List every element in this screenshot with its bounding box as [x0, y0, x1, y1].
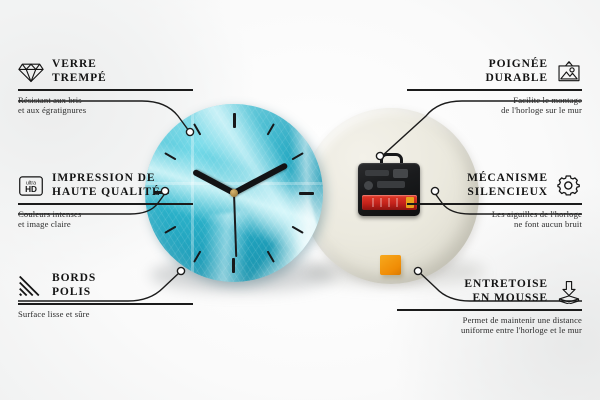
- feature-title: POIGNÉE DURABLE: [485, 58, 548, 85]
- foam-spacer: [380, 255, 401, 275]
- feature-impression-haute-qualite: ultra HD IMPRESSION DE HAUTE QUALITÉ Cou…: [18, 172, 193, 229]
- feature-title: IMPRESSION DE HAUTE QUALITÉ: [52, 172, 161, 199]
- feature-divider: [397, 309, 582, 311]
- feature-desc-line2: ne font aucun bruit: [407, 219, 582, 229]
- clock-tick-12: [233, 113, 235, 193]
- clock-tick-3: [234, 192, 314, 194]
- feature-divider: [18, 89, 193, 91]
- diamond-icon: [18, 60, 44, 84]
- feature-title: MÉCANISME SILENCIEUX: [467, 172, 548, 199]
- feature-header: POIGNÉE DURABLE: [407, 58, 582, 85]
- svg-text:HD: HD: [25, 185, 37, 194]
- feature-desc-line1: Facilite le montage: [407, 95, 582, 105]
- feature-title: BORDS POLIS: [52, 272, 96, 299]
- feature-title: VERRE TREMPÉ: [52, 58, 107, 85]
- feature-desc-line1: Couleurs intenses: [18, 209, 193, 219]
- polished-edge-lines-icon: [18, 274, 44, 298]
- feature-header: ultra HD IMPRESSION DE HAUTE QUALITÉ: [18, 172, 193, 199]
- feature-divider: [18, 303, 193, 305]
- feature-header: ENTRETOISE EN MOUSSE: [397, 278, 582, 305]
- feature-desc-line1: Permet de maintenir une distance: [397, 315, 582, 325]
- feature-divider: [407, 203, 582, 205]
- feature-divider: [407, 89, 582, 91]
- hanging-picture-frame-icon: [556, 60, 582, 84]
- feature-title: ENTRETOISE EN MOUSSE: [464, 278, 548, 305]
- feature-desc-line2: de l'horloge sur le mur: [407, 105, 582, 115]
- feature-divider: [18, 203, 193, 205]
- gear-icon: [556, 174, 582, 198]
- ultra-hd-icon: ultra HD: [18, 174, 44, 198]
- feature-header: VERRE TREMPÉ: [18, 58, 193, 85]
- feature-header: MÉCANISME SILENCIEUX: [407, 172, 582, 199]
- feature-desc-line2: et image claire: [18, 219, 193, 229]
- feature-desc-line2: uniforme entre l'horloge et le mur: [397, 325, 582, 335]
- feature-desc-line1: Résistant aux bris: [18, 95, 193, 105]
- clock-center-cap: [230, 189, 238, 197]
- feature-desc-line2: et aux égratignures: [18, 105, 193, 115]
- feature-desc-line1: Surface lisse et sûre: [18, 309, 193, 319]
- feature-mecanisme-silencieux: MÉCANISME SILENCIEUX Les aiguilles de l'…: [407, 172, 582, 229]
- feature-header: BORDS POLIS: [18, 272, 193, 299]
- feature-entretoise-en-mousse: ENTRETOISE EN MOUSSE Permet de maintenir…: [397, 278, 582, 335]
- feature-poignee-durable: POIGNÉE DURABLE Facilite le montage de l…: [407, 58, 582, 115]
- feature-verre-trempe: VERRE TREMPÉ Résistant aux bris et aux é…: [18, 58, 193, 115]
- foam-spacer-arrow-icon: [556, 280, 582, 304]
- infographic-canvas: VERRE TREMPÉ Résistant aux bris et aux é…: [0, 0, 600, 400]
- feature-desc-line1: Les aiguilles de l'horloge: [407, 209, 582, 219]
- feature-bords-polis: BORDS POLIS Surface lisse et sûre: [18, 272, 193, 319]
